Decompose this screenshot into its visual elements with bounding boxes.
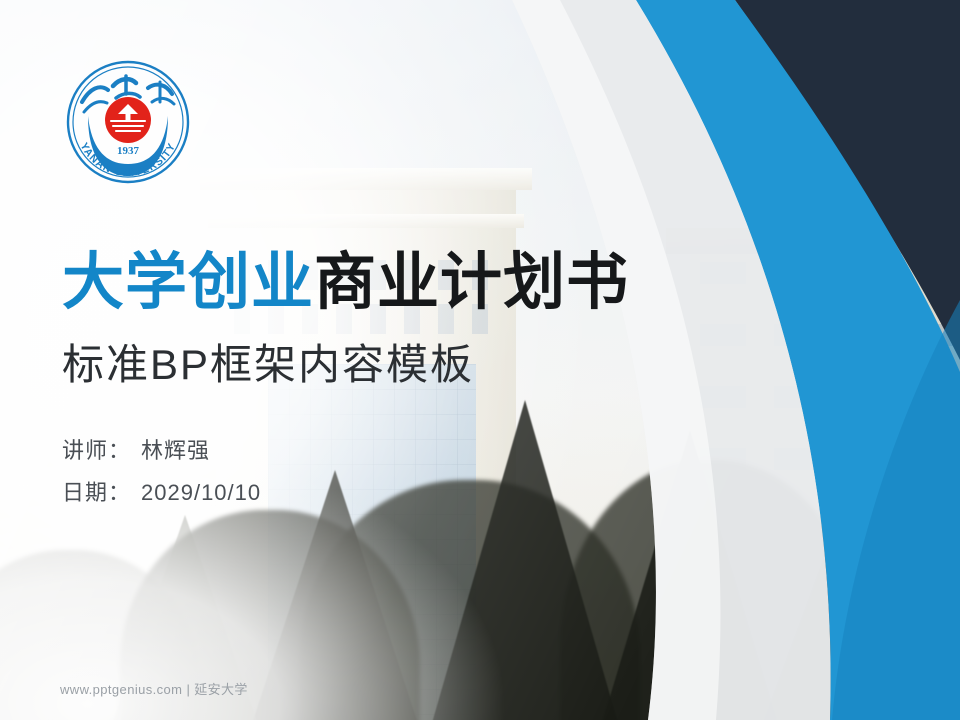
meta-row-date: 日期：2029/10/10	[62, 482, 261, 504]
title-part-dark: 商业计划书	[314, 248, 629, 317]
logo-year: 1937	[117, 145, 140, 157]
presenter-label: 讲师：	[62, 438, 131, 463]
footer-organization: 延安大学	[194, 682, 248, 697]
footer-site[interactable]: www.pptgenius.com	[60, 682, 182, 697]
page-subtitle: 标准BP框架内容模板	[62, 344, 474, 386]
meta-row-presenter: 讲师：林辉强	[62, 440, 261, 462]
date-value: 2029/10/10	[141, 480, 261, 505]
title-part-blue: 大学创业	[62, 248, 314, 317]
date-label: 日期：	[62, 480, 131, 505]
presenter-value: 林辉强	[141, 438, 210, 463]
footer: www.pptgenius.com | 延安大学	[60, 679, 248, 698]
university-logo: 1937 YANAN UNIVERSITY	[64, 58, 192, 186]
presentation-meta: 讲师：林辉强 日期：2029/10/10	[62, 440, 261, 524]
page-title: 大学创业商业计划书	[62, 252, 629, 314]
presentation-cover-slide: 1937 YANAN UNIVERSITY 大学创业商业计划书 标准BP框架内容…	[0, 0, 960, 720]
footer-separator: |	[186, 682, 190, 697]
